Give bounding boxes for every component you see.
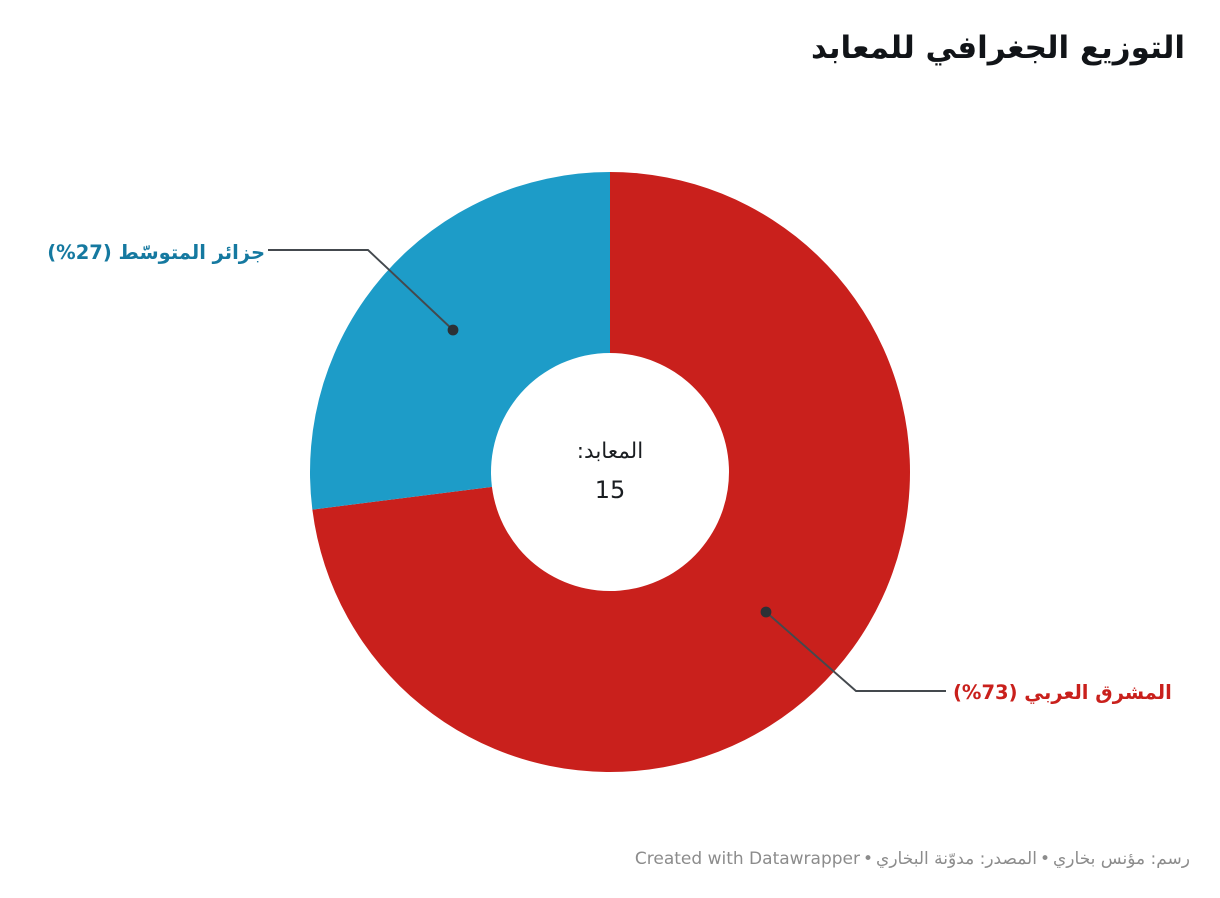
donut-center-annotation: المعابد: 15 xyxy=(505,439,715,505)
leader-dot-mashriq xyxy=(761,607,772,618)
slice-label-mediterranean: جزائر المتوسّط (27%) xyxy=(47,241,265,264)
donut-center-value: 15 xyxy=(505,476,715,505)
donut-plot-area xyxy=(0,0,1220,830)
donut-center-label: المعابد: xyxy=(505,439,715,466)
footer-source: المصدر: مدوّنة البخاري xyxy=(876,849,1037,869)
slice-label-mashriq: المشرق العربي (73%) xyxy=(953,681,1172,704)
footer-separator-2: • xyxy=(860,849,876,869)
donut-chart-figure: التوزيع الجغرافي للمعابد جزائر المتوسّط … xyxy=(0,0,1220,898)
footer-separator-1: • xyxy=(1037,849,1053,869)
leader-dot-mediterranean xyxy=(448,325,459,336)
footer-tool-credit[interactable]: Created with Datawrapper xyxy=(635,849,860,869)
footer-credit: رسم: مؤنس بخاري xyxy=(1053,849,1190,869)
chart-footer: رسم: مؤنس بخاري•المصدر: مدوّنة البخاري•C… xyxy=(0,848,1190,870)
